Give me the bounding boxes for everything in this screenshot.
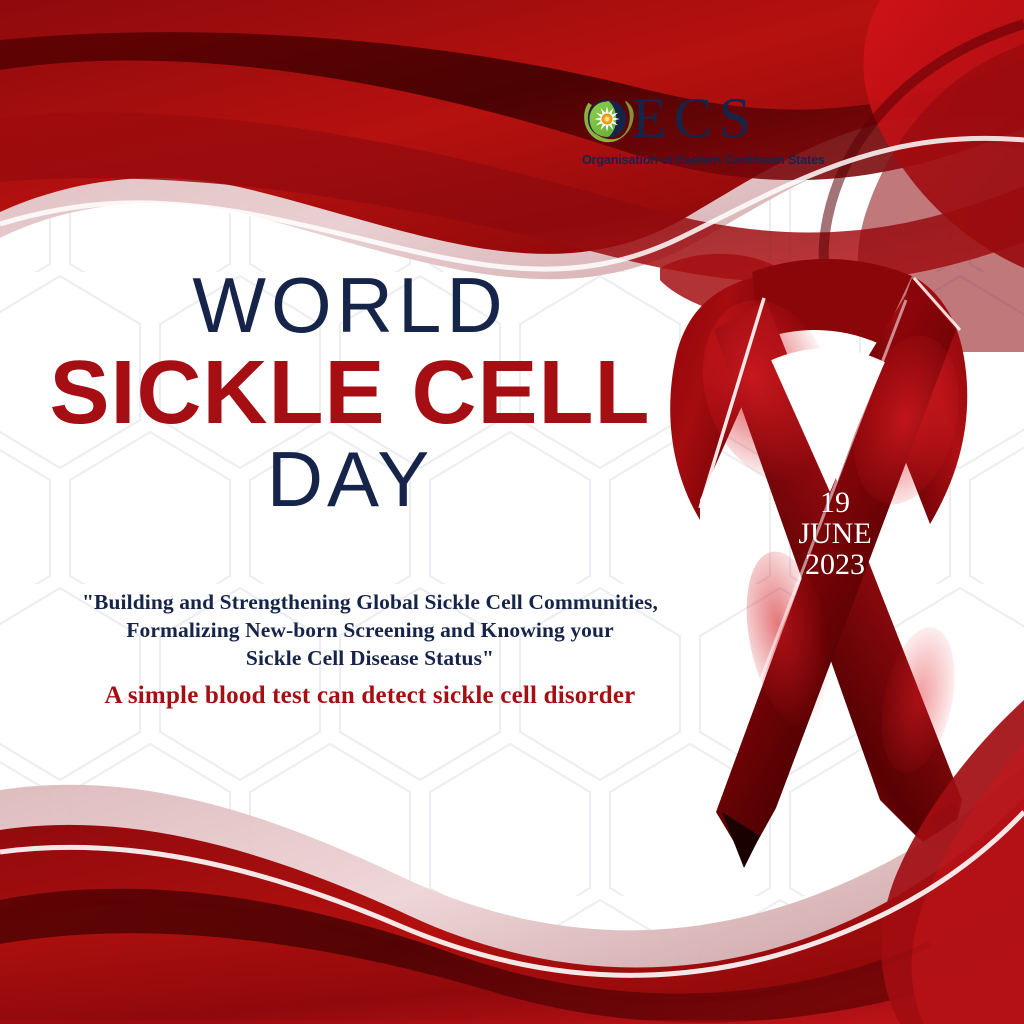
headline-sickle-cell: SICKLE CELL <box>0 345 700 441</box>
theme-line-1: "Building and Strengthening Global Sickl… <box>10 588 730 616</box>
tagline-text: A simple blood test can detect sickle ce… <box>10 680 730 712</box>
page-title: WORLD SICKLE CELL DAY <box>0 263 700 521</box>
event-date-year: 2023 <box>780 549 890 580</box>
event-date: 19 JUNE 2023 <box>780 487 890 580</box>
headline-world: WORLD <box>0 263 700 347</box>
theme-line-2: Formalizing New-born Screening and Knowi… <box>10 616 730 644</box>
poster-canvas: ECS Organisation of Eastern Caribbean St… <box>0 0 1024 1024</box>
event-date-month: JUNE <box>780 518 890 549</box>
oecs-sun-circle-icon <box>578 90 636 148</box>
theme-statement: "Building and Strengthening Global Sickl… <box>10 588 730 672</box>
oecs-logo: ECS Organisation of Eastern Caribbean St… <box>578 88 838 167</box>
oecs-wordmark: ECS <box>632 90 758 148</box>
event-date-day: 19 <box>780 487 890 518</box>
theme-line-3: Sickle Cell Disease Status" <box>10 644 730 672</box>
headline-day: DAY <box>0 437 700 521</box>
oecs-full-name: Organisation of Eastern Caribbean States <box>582 152 828 167</box>
